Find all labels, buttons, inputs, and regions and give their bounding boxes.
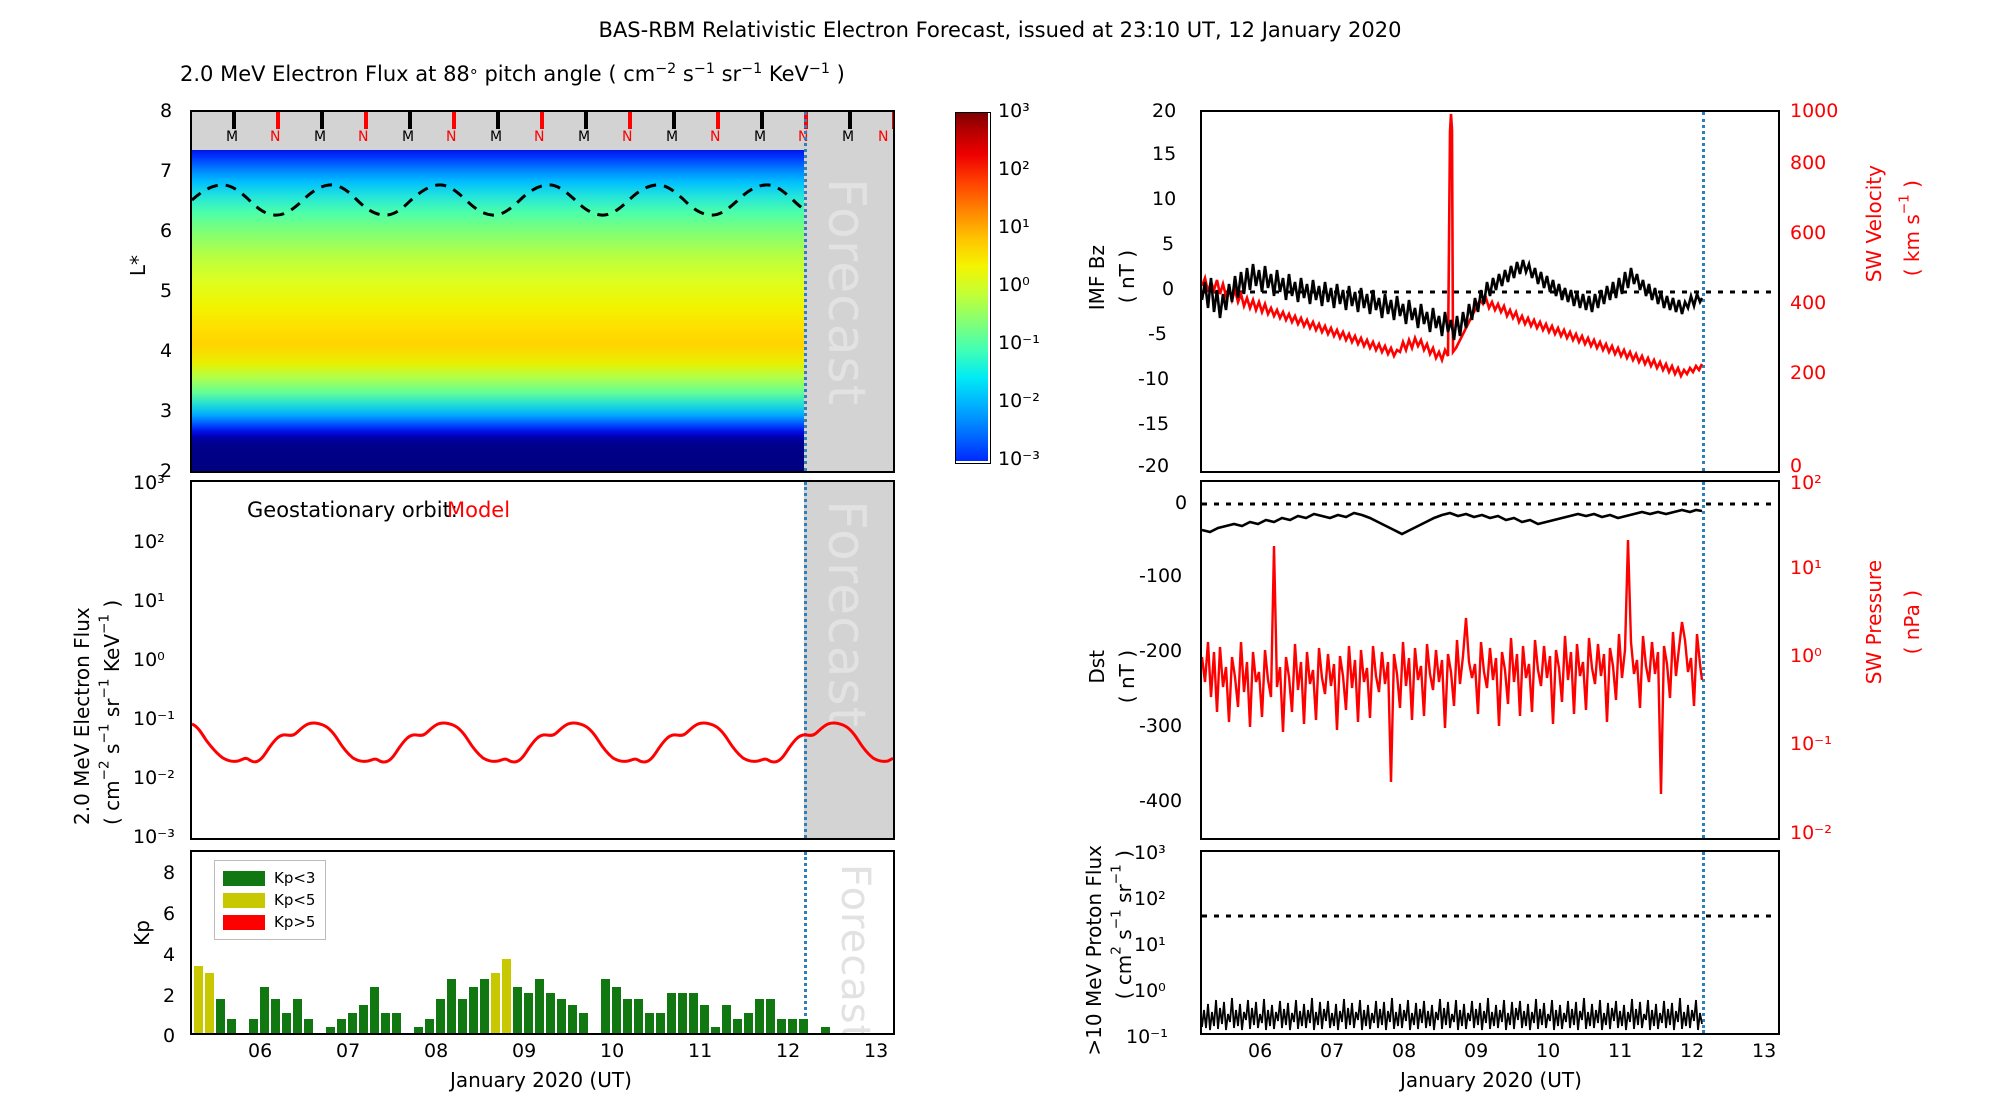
xtick-left: 09 <box>512 1040 536 1062</box>
cbtick: 10¹ <box>998 216 1030 238</box>
geo-flux-ylabel: 2.0 MeV Electron Flux <box>70 495 94 825</box>
ytick-flux: 4 <box>160 340 172 362</box>
swpress-ylabel-units: ( nPa ) <box>1900 590 1924 654</box>
proton-ylabel-units: ( cm2 s−1 sr−1 ) <box>1112 850 1136 999</box>
marker-m: M <box>578 129 590 145</box>
marker-n: N <box>878 129 888 145</box>
xtick-right: 10 <box>1536 1040 1560 1062</box>
kp-legend: Kp<3 Kp<5 Kp>5 <box>214 860 326 940</box>
geo-orbit-label: Geostationary orbit: <box>247 498 458 522</box>
ytick-swvel: 200 <box>1790 362 1826 384</box>
xtick-right: 11 <box>1608 1040 1632 1062</box>
marker-n: N <box>446 129 456 145</box>
xtick-left: 13 <box>864 1040 888 1062</box>
ytick-flux: 3 <box>160 400 172 422</box>
imf-bz-series <box>1202 112 1778 471</box>
xtick-right: 13 <box>1752 1040 1776 1062</box>
ytick-kp: 6 <box>163 903 175 925</box>
flux-lstar-plot[interactable]: M M M M M M M M N N N N N N N N Forecast <box>190 110 895 473</box>
dst-ylabel-units: ( nT ) <box>1115 650 1139 703</box>
geo-flux-ylabel-units: ( cm−2 s−1 sr−1 KeV−1 ) <box>100 505 124 825</box>
cbtick: 10⁰ <box>998 274 1030 296</box>
flux-panel-title: 2.0 MeV Electron Flux at 88° pitch angle… <box>180 62 845 86</box>
marker-m: M <box>314 129 326 145</box>
ytick-swpress: 10¹ <box>1790 557 1822 579</box>
ytick-kp: 2 <box>163 985 175 1007</box>
ytick-flux: 7 <box>160 160 172 182</box>
xtick-left: 06 <box>248 1040 272 1062</box>
forecast-divider <box>804 112 807 471</box>
ytick-swpress: 10⁻¹ <box>1790 733 1832 755</box>
marker-n: N <box>622 129 632 145</box>
ytick-proton: 10¹ <box>1134 934 1166 956</box>
ytick-swpress: 10⁰ <box>1790 645 1822 667</box>
cbtick: 10³ <box>998 100 1030 122</box>
ytick-flux: 8 <box>160 100 172 122</box>
forecast-watermark: Forecast <box>816 178 876 406</box>
swvel-ylabel-units: ( km s−1 ) <box>1900 180 1924 276</box>
ytick-geo: 10⁰ <box>133 649 165 671</box>
ytick-imfbz: 0 <box>1162 278 1174 300</box>
colorbar[interactable] <box>955 112 991 464</box>
ytick-swvel: 800 <box>1790 152 1826 174</box>
ytick-proton: 10⁻¹ <box>1126 1026 1168 1048</box>
xtick-right: 08 <box>1392 1040 1416 1062</box>
legend-swatch-kp-lt5 <box>223 893 265 908</box>
proton-flux-plot[interactable] <box>1200 850 1780 1035</box>
ytick-flux: 5 <box>160 280 172 302</box>
ytick-dst: -400 <box>1139 790 1182 812</box>
xtick-right: 09 <box>1464 1040 1488 1062</box>
ytick-swpress: 10⁻² <box>1790 822 1832 844</box>
cbtick: 10⁻² <box>998 390 1040 412</box>
proton-ylabel: >10 MeV Proton Flux <box>1082 845 1106 1056</box>
marker-m: M <box>666 129 678 145</box>
marker-m: M <box>754 129 766 145</box>
legend-item: Kp>5 <box>223 911 315 933</box>
swvel-ylabel: SW Velocity <box>1862 165 1886 282</box>
xtick-left: 07 <box>336 1040 360 1062</box>
ytick-proton: 10⁰ <box>1134 980 1166 1002</box>
ytick-dst: -200 <box>1139 640 1182 662</box>
ytick-imfbz: -10 <box>1138 368 1169 390</box>
ytick-imfbz: -15 <box>1138 413 1169 435</box>
swpress-ylabel: SW Pressure <box>1862 560 1886 684</box>
kp-ylabel: Kp <box>130 920 154 946</box>
ytick-imfbz: 20 <box>1152 100 1176 122</box>
dst-ylabel: Dst <box>1085 650 1109 684</box>
marker-m: M <box>490 129 502 145</box>
ytick-imfbz: -5 <box>1148 323 1167 345</box>
xtick-left: 11 <box>688 1040 712 1062</box>
geo-flux-series <box>192 482 893 838</box>
xtick-right: 06 <box>1248 1040 1272 1062</box>
flux-ylabel: L* <box>126 255 150 276</box>
ytick-swvel: 600 <box>1790 222 1826 244</box>
dst-plot[interactable] <box>1200 480 1780 840</box>
ytick-geo: 10² <box>133 531 165 553</box>
cbtick: 10² <box>998 158 1030 180</box>
ytick-geo: 10⁻¹ <box>133 708 175 730</box>
ytick-imfbz: -20 <box>1138 455 1169 477</box>
marker-n: N <box>710 129 720 145</box>
legend-item: Kp<5 <box>223 889 315 911</box>
xtick-right: 07 <box>1320 1040 1344 1062</box>
ytick-geo: 10³ <box>133 472 165 494</box>
legend-item: Kp<3 <box>223 867 315 889</box>
ytick-kp: 4 <box>163 944 175 966</box>
ytick-geo: 10⁻³ <box>133 826 175 848</box>
mn-marker-band: M M M M M M M M N N N N N N N N <box>192 112 893 150</box>
cbtick: 10⁻³ <box>998 448 1040 470</box>
xlabel-right: January 2020 (UT) <box>1400 1068 1582 1092</box>
flux-heatmap <box>192 112 893 471</box>
legend-swatch-kp-lt3 <box>223 871 265 886</box>
geo-flux-plot[interactable]: Forecast Geostationary orbit: Model <box>190 480 895 840</box>
ytick-proton: 10³ <box>1134 842 1166 864</box>
xtick-left: 12 <box>776 1040 800 1062</box>
dst-series <box>1202 482 1778 838</box>
marker-m: M <box>226 129 238 145</box>
ytick-imfbz: 10 <box>1152 188 1176 210</box>
ytick-imfbz: 5 <box>1162 233 1174 255</box>
marker-m: M <box>402 129 414 145</box>
imf-bz-plot[interactable] <box>1200 110 1780 473</box>
ytick-dst: -300 <box>1139 715 1182 737</box>
xtick-right: 12 <box>1680 1040 1704 1062</box>
ytick-swvel: 1000 <box>1790 100 1838 122</box>
ytick-proton: 10² <box>1134 888 1166 910</box>
marker-m: M <box>842 129 854 145</box>
ytick-flux: 6 <box>160 220 172 242</box>
legend-label: Kp<5 <box>274 891 315 909</box>
legend-label: Kp<3 <box>274 869 315 887</box>
marker-n: N <box>358 129 368 145</box>
cbtick: 10⁻¹ <box>998 332 1040 354</box>
ytick-kp: 8 <box>163 862 175 884</box>
ytick-dst: 0 <box>1175 492 1187 514</box>
legend-label: Kp>5 <box>274 913 315 931</box>
marker-n: N <box>270 129 280 145</box>
page-title: BAS-RBM Relativistic Electron Forecast, … <box>0 18 2000 42</box>
kp-plot[interactable]: Forecast <box>190 850 895 1035</box>
geo-model-label: Model <box>447 498 510 522</box>
marker-n: N <box>534 129 544 145</box>
legend-swatch-kp-gt5 <box>223 915 265 930</box>
proton-flux-series <box>1202 852 1778 1033</box>
xlabel-left: January 2020 (UT) <box>450 1068 632 1092</box>
imfbz-ylabel-units: ( nT ) <box>1115 250 1139 303</box>
xtick-left: 08 <box>424 1040 448 1062</box>
ytick-kp: 0 <box>163 1025 175 1047</box>
ytick-dst: -100 <box>1139 565 1182 587</box>
xtick-left: 10 <box>600 1040 624 1062</box>
ytick-geo: 10¹ <box>133 590 165 612</box>
ytick-geo: 10⁻² <box>133 767 175 789</box>
ytick-swvel: 400 <box>1790 292 1826 314</box>
ytick-swpress: 10² <box>1790 472 1822 494</box>
colorbar-gradient <box>956 113 988 461</box>
imfbz-ylabel: IMF Bz <box>1085 245 1109 310</box>
ytick-imfbz: 15 <box>1152 143 1176 165</box>
